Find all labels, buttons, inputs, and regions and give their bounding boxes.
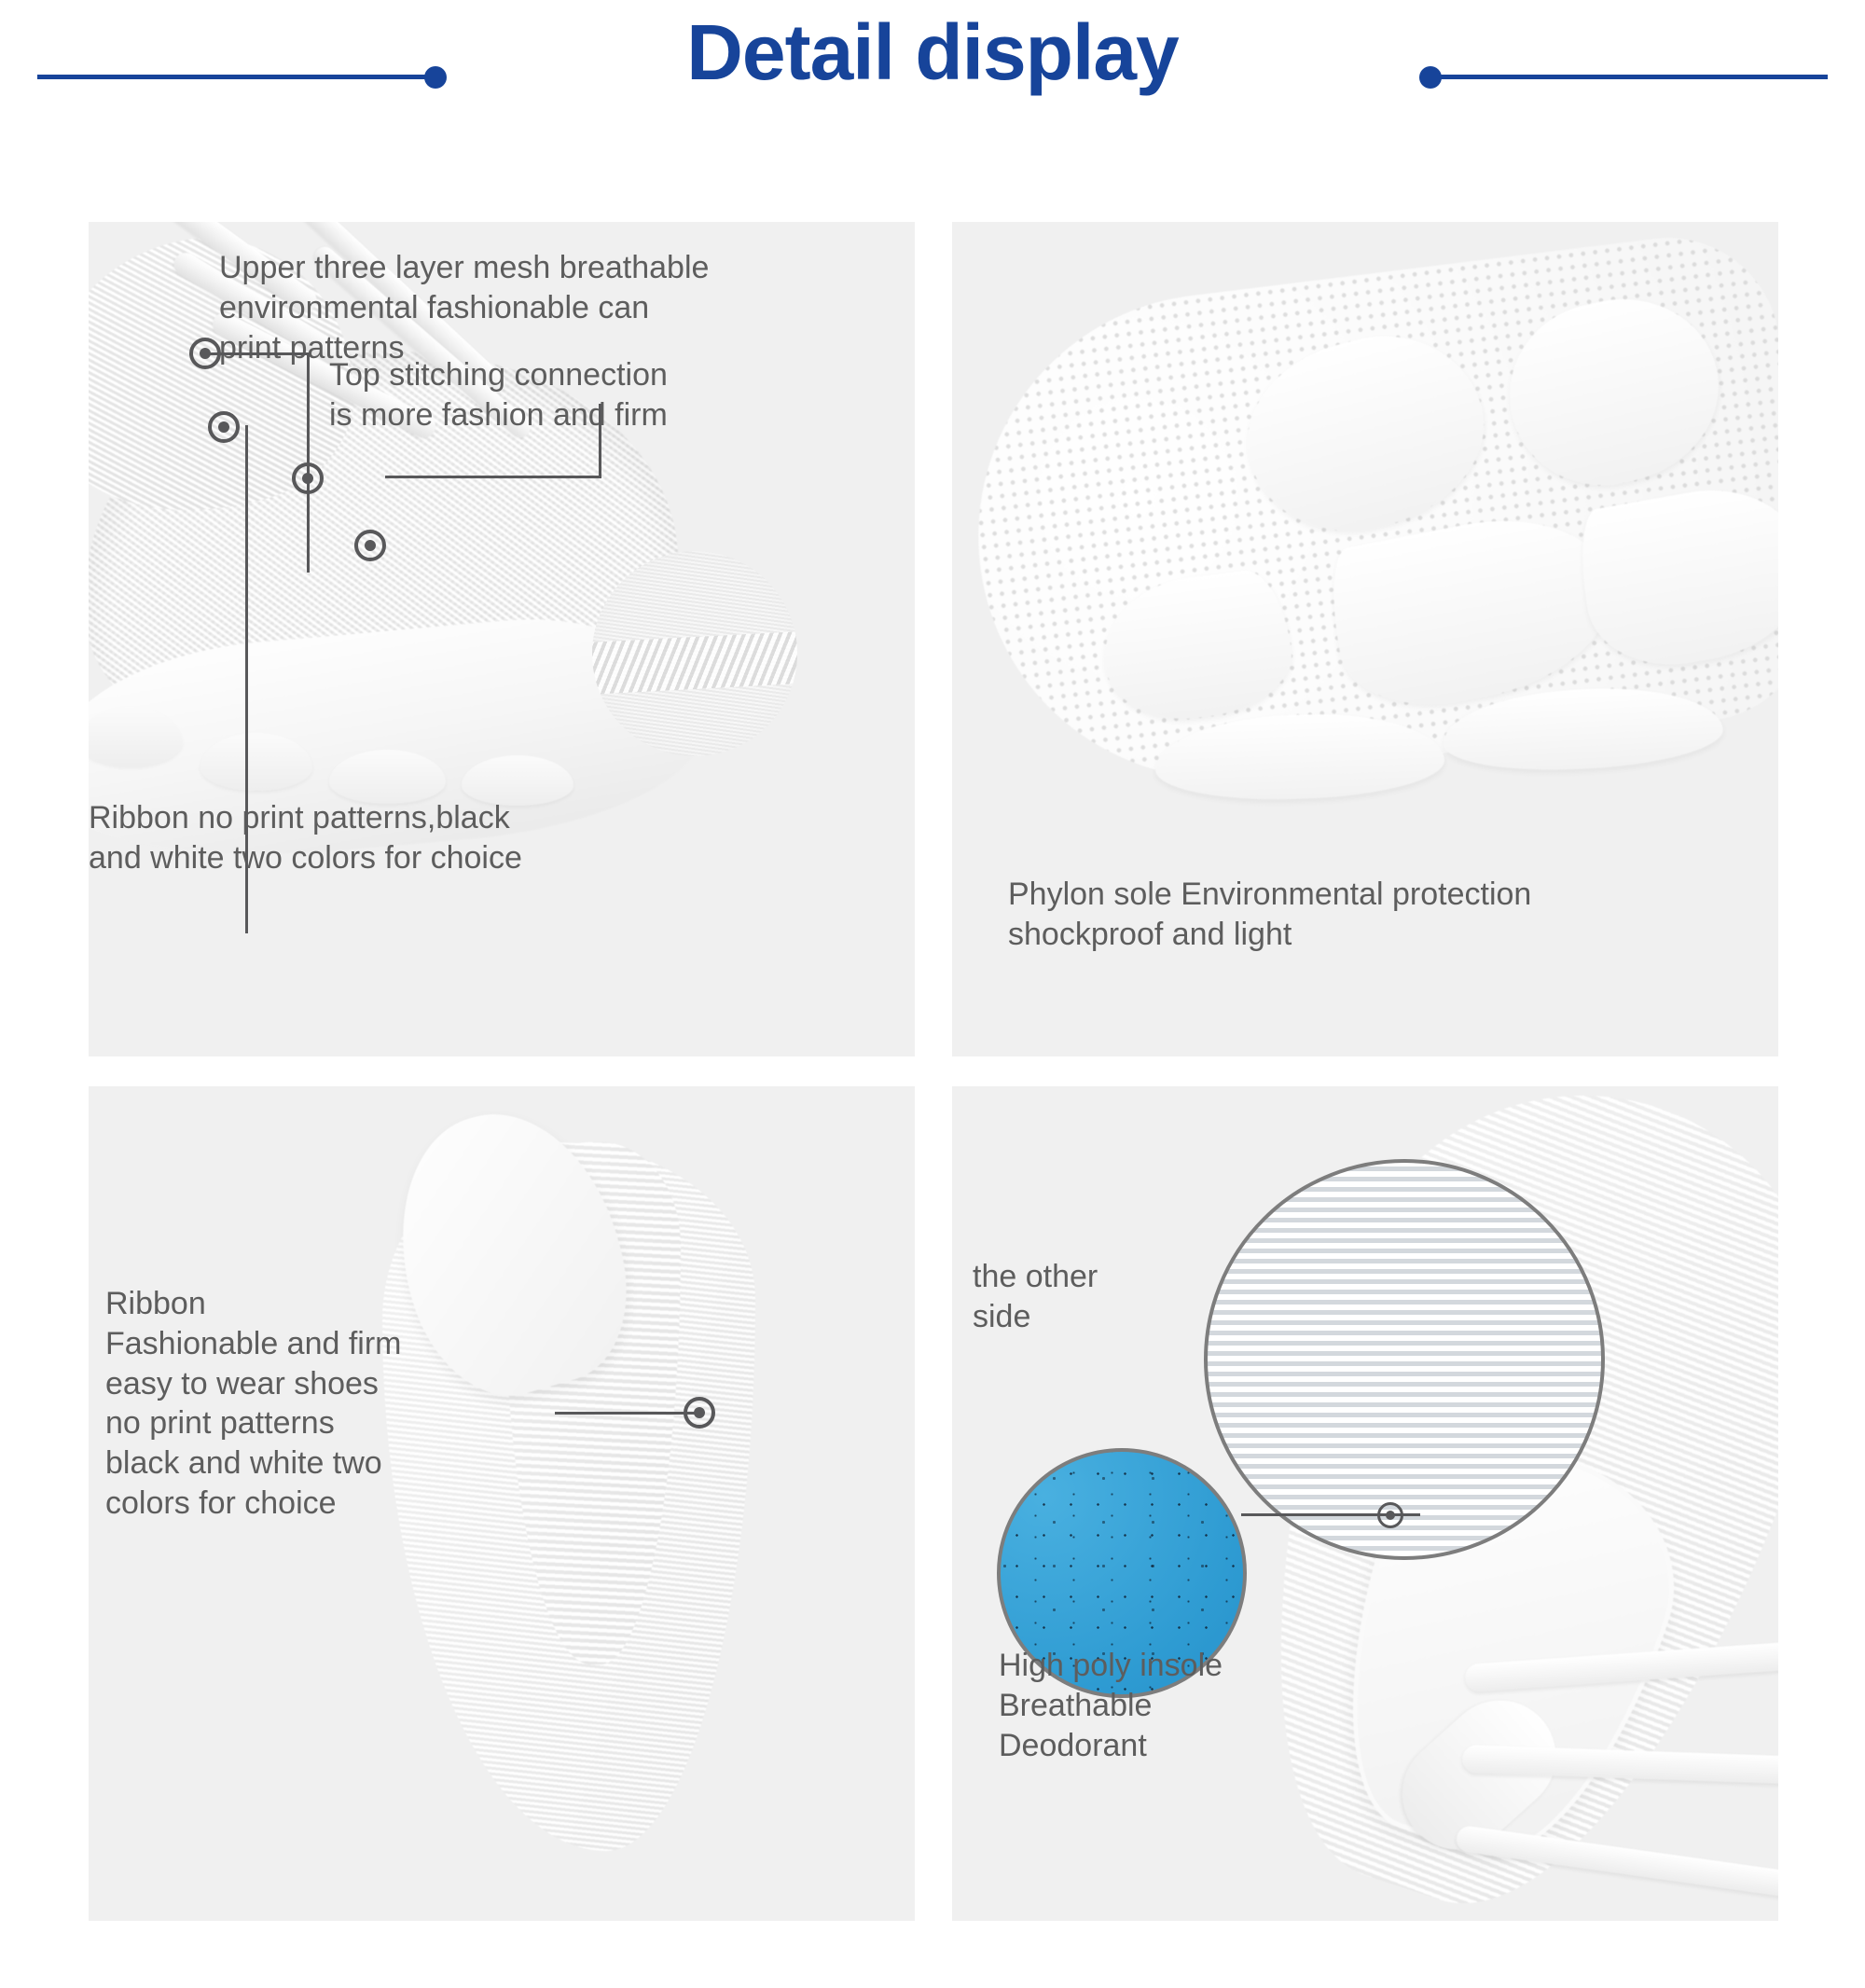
caption-phylon-sole: Phylon sole Environmental protection sho… xyxy=(1008,875,1754,955)
stitching-closeup-bubble xyxy=(592,551,797,756)
page-title: Detail display xyxy=(0,7,1865,98)
callout-marker-2[interactable] xyxy=(208,411,240,443)
panel-ribbon-heel[interactable]: Ribbon Fashionable and firm easy to wear… xyxy=(89,1086,915,1921)
header-rule-right xyxy=(1436,75,1828,79)
callout-marker-ribbon[interactable] xyxy=(684,1397,715,1429)
leader-line-stitch-h xyxy=(385,476,601,478)
caption-ribbon-detail: Ribbon Fashionable and firm easy to wear… xyxy=(105,1284,590,1524)
page-header: Detail display xyxy=(0,0,1865,154)
caption-high-poly-insole: High poly insole Breathable Deodorant xyxy=(999,1646,1390,1765)
leader-line-stitch-v xyxy=(599,404,601,478)
callout-marker-1[interactable] xyxy=(189,338,221,369)
caption-top-stitching: Top stitching connection is more fashion… xyxy=(329,355,814,435)
mesh-closeup-bubble xyxy=(1204,1159,1605,1560)
caption-upper-mesh: Upper three layer mesh breathable enviro… xyxy=(219,248,797,367)
caption-ribbon-colors: Ribbon no print patterns,black and white… xyxy=(89,798,741,878)
caption-other-side: the other side xyxy=(973,1257,1252,1337)
callout-marker-insole[interactable] xyxy=(1377,1502,1403,1528)
callout-marker-3[interactable] xyxy=(292,462,324,494)
panel-insole[interactable]: the other side High poly insole Breathab… xyxy=(952,1086,1778,1921)
header-dot-right-icon xyxy=(1419,66,1442,89)
panel-upper-mesh[interactable]: Upper three layer mesh breathable enviro… xyxy=(89,222,915,1056)
callout-marker-4[interactable] xyxy=(354,530,386,561)
outsole-photo xyxy=(952,226,1778,853)
panel-phylon-sole[interactable]: Phylon sole Environmental protection sho… xyxy=(952,222,1778,1056)
leader-line-ribbon-b xyxy=(245,425,248,933)
leader-line-ribbon-print xyxy=(555,1412,697,1415)
